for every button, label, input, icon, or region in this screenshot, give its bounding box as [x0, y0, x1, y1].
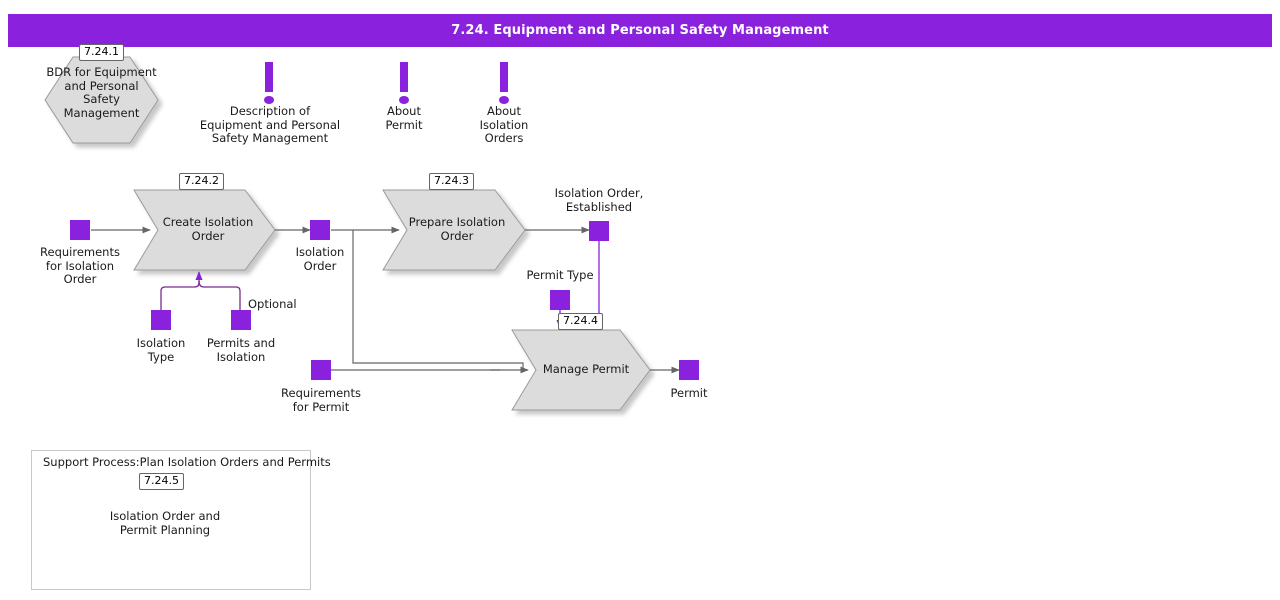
node-permits-and-isolation[interactable]	[231, 310, 251, 330]
node-label-requirements-for-isolation-order: Requirements for Isolation Order	[25, 246, 135, 287]
id-tag-manage-permit: 7.24.4	[558, 313, 603, 330]
note-description-label: Description of Equipment and Personal Sa…	[180, 105, 360, 146]
node-label-requirements-for-permit: Requirements for Permit	[266, 387, 376, 414]
diagram-title-bar: 7.24. Equipment and Personal Safety Mana…	[8, 14, 1272, 47]
note-about-permit-label: About Permit	[354, 105, 454, 132]
id-tag-create-isolation-order: 7.24.2	[179, 173, 224, 190]
support-process-frame	[31, 450, 311, 590]
node-label-permit: Permit	[639, 387, 739, 401]
id-tag-bdr: 7.24.1	[79, 44, 124, 61]
bdr-hexagon-shape[interactable]	[45, 57, 158, 143]
connector-optional-fork	[161, 281, 240, 310]
id-tag-isolation-order-and-permit-planning: 7.24.5	[139, 473, 184, 490]
node-requirements-for-isolation-order[interactable]	[70, 220, 90, 240]
note-about-permit-icon[interactable]	[400, 62, 409, 104]
node-permit[interactable]	[679, 360, 699, 380]
exclamation-dot-icon	[264, 96, 274, 104]
page-title: 7.24. Equipment and Personal Safety Mana…	[451, 23, 829, 38]
node-label-isolation-order-established: Isolation Order, Established	[534, 187, 664, 214]
annotation-optional: Optional	[248, 298, 297, 312]
node-permit-type[interactable]	[550, 290, 570, 310]
process-chevron-prepare-isolation-order[interactable]	[383, 190, 525, 270]
support-process-title: Support Process:Plan Isolation Orders an…	[43, 455, 331, 469]
note-about-isolation-orders-label: About Isolation Orders	[454, 105, 554, 146]
node-label-isolation-order: Isolation Order	[270, 246, 370, 273]
id-tag-prepare-isolation-order: 7.24.3	[429, 173, 474, 190]
exclamation-dot-icon	[399, 96, 409, 104]
exclamation-bar-icon	[500, 62, 508, 92]
exclamation-dot-icon	[499, 96, 509, 104]
exclamation-bar-icon	[265, 62, 273, 92]
process-chevron-manage-permit[interactable]	[512, 330, 650, 410]
note-about-isolation-orders-icon[interactable]	[500, 62, 509, 104]
note-description-icon[interactable]	[265, 62, 274, 104]
node-label-permits-and-isolation: Permits and Isolation	[191, 337, 291, 364]
node-isolation-order-established[interactable]	[589, 221, 609, 241]
node-label-permit-type: Permit Type	[510, 269, 610, 283]
node-requirements-for-permit[interactable]	[311, 360, 331, 380]
exclamation-bar-icon	[400, 62, 408, 92]
node-isolation-type[interactable]	[151, 310, 171, 330]
node-isolation-order[interactable]	[310, 220, 330, 240]
process-chevron-create-isolation-order[interactable]	[134, 190, 275, 270]
